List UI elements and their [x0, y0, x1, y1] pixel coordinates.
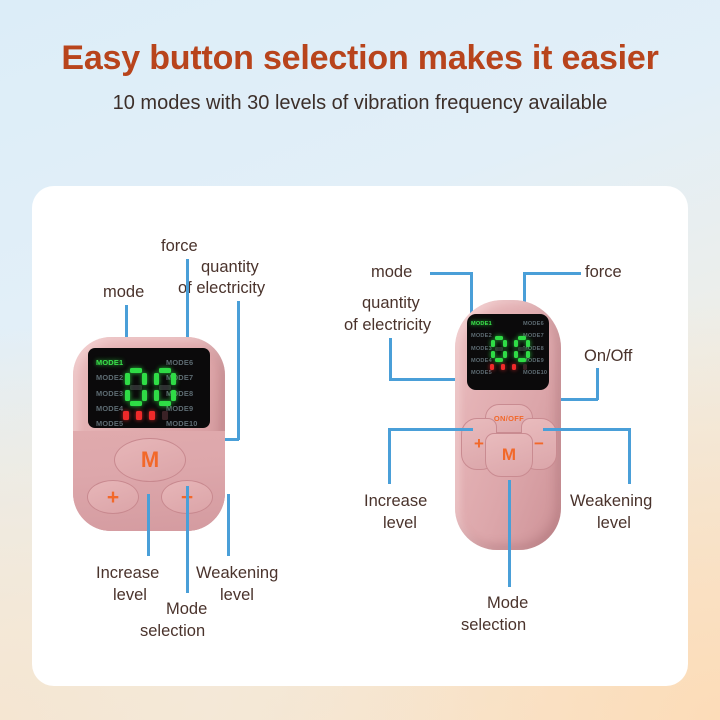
right-callout-increase-line2: level: [383, 514, 417, 533]
right-lcd-mode-column-left: MODE1 MODE2 MODE3 MODE4 MODE5: [471, 321, 492, 382]
segment-c: [503, 351, 507, 358]
battery-bar: [123, 411, 129, 420]
right-mode-button[interactable]: M: [485, 433, 533, 477]
segment-c: [171, 390, 176, 402]
battery-bar: [501, 364, 505, 370]
left-callout-mode-label: mode: [103, 283, 144, 302]
segment-c: [526, 351, 530, 358]
segment-e: [514, 351, 518, 358]
seven-segment-digit: [491, 336, 507, 362]
left-callout-increase-line2: level: [113, 586, 147, 605]
segment-g: [495, 347, 503, 351]
segment-a: [130, 368, 142, 373]
left-callout-increase-line1: Increase: [96, 564, 159, 583]
segment-b: [142, 373, 147, 385]
seven-segment-digit: [154, 368, 176, 406]
left-lcd-mode-1: MODE1: [96, 358, 123, 367]
right-leader-increase-h: [388, 428, 473, 431]
battery-bar: [136, 411, 142, 420]
left-callout-quantity-label-line1: quantity: [201, 258, 259, 277]
segment-d: [495, 358, 503, 362]
right-lcd-mode-4: MODE4: [471, 358, 492, 364]
left-lcd-mode-6: MODE6: [166, 358, 198, 367]
right-lcd-mode-6: MODE6: [523, 321, 547, 327]
left-device-lcd: MODE1 MODE2 MODE3 MODE4 MODE5 MODE6 MODE…: [88, 348, 210, 428]
left-lcd-mode-3: MODE3: [96, 389, 123, 398]
left-lcd-battery: [123, 411, 168, 420]
right-callout-mode-selection-line1: Mode: [487, 594, 528, 613]
left-callout-weakening-line1: Weakening: [196, 564, 278, 583]
right-lcd-mode-5: MODE5: [471, 370, 492, 376]
left-callout-quantity-label-line2: of electricity: [178, 279, 265, 298]
right-lcd-mode-2: MODE2: [471, 333, 492, 339]
segment-e: [491, 351, 495, 358]
left-lcd-mode-5: MODE5: [96, 419, 123, 428]
segment-g: [518, 347, 526, 351]
segment-a: [518, 336, 526, 340]
segment-a: [495, 336, 503, 340]
left-lcd-mode-2: MODE2: [96, 373, 123, 382]
right-leader-force-h: [523, 272, 581, 275]
left-lcd-digits: [125, 368, 176, 406]
left-callout-force-label: force: [161, 237, 198, 256]
seven-segment-digit: [125, 368, 147, 406]
right-callout-force-label: force: [585, 263, 622, 282]
seven-segment-digit: [514, 336, 530, 362]
right-device-lcd: MODE1 MODE2 MODE3 MODE4 MODE5 MODE6 MODE…: [467, 314, 549, 390]
right-leader-weakening-v: [628, 428, 631, 484]
left-leader-weakening: [227, 494, 230, 556]
segment-c: [142, 390, 147, 402]
battery-bar: [512, 364, 516, 370]
segment-b: [503, 340, 507, 347]
left-lcd-mode-4: MODE4: [96, 404, 123, 413]
segment-e: [154, 390, 159, 402]
right-callout-weakening-line2: level: [597, 514, 631, 533]
infographic-stage: Easy button selection makes it easier 10…: [0, 0, 720, 720]
segment-d: [159, 401, 171, 406]
right-lcd-battery: [490, 364, 527, 370]
right-leader-increase-v: [388, 428, 391, 484]
left-mode-button[interactable]: M: [114, 438, 186, 482]
segment-d: [130, 401, 142, 406]
header: Easy button selection makes it easier 10…: [0, 0, 720, 115]
left-lcd-mode-10: MODE10: [166, 419, 198, 428]
left-lcd-mode-column-left: MODE1 MODE2 MODE3 MODE4 MODE5: [96, 358, 123, 428]
battery-bar: [162, 411, 168, 420]
left-leader-mode-selection: [186, 486, 189, 593]
segment-g: [130, 385, 142, 390]
right-callout-quantity-label-line2: of electricity: [344, 316, 431, 335]
right-leader-weakening-h: [543, 428, 628, 431]
segment-d: [518, 358, 526, 362]
left-increase-button[interactable]: +: [87, 480, 139, 514]
segment-f: [514, 340, 518, 347]
left-callout-mode-selection-line1: Mode: [166, 600, 207, 619]
segment-f: [125, 373, 130, 385]
right-callout-weakening-line1: Weakening: [570, 492, 652, 511]
right-leader-quantity-v: [389, 338, 392, 380]
segment-g: [159, 385, 171, 390]
right-callout-increase-line1: Increase: [364, 492, 427, 511]
segment-b: [526, 340, 530, 347]
segment-a: [159, 368, 171, 373]
right-leader-mode-selection: [508, 480, 511, 587]
battery-bar: [490, 364, 494, 370]
right-lcd-mode-1: MODE1: [471, 321, 492, 327]
left-callout-mode-selection-line2: selection: [140, 622, 205, 641]
right-leader-onoff-v: [596, 368, 599, 400]
segment-e: [125, 390, 130, 402]
segment-f: [154, 373, 159, 385]
left-leader-quantity-v: [237, 301, 240, 440]
right-callout-onoff-label: On/Off: [584, 347, 632, 366]
right-leader-mode-h: [430, 272, 472, 275]
left-leader-increase: [147, 494, 150, 556]
right-lcd-mode-3: MODE3: [471, 346, 492, 352]
page-title: Easy button selection makes it easier: [0, 0, 720, 77]
right-lcd-digits: [491, 336, 530, 362]
page-subtitle: 10 modes with 30 levels of vibration fre…: [0, 77, 720, 115]
battery-bar: [523, 364, 527, 370]
right-callout-mode-selection-line2: selection: [461, 616, 526, 635]
segment-f: [491, 340, 495, 347]
left-callout-weakening-line2: level: [220, 586, 254, 605]
right-callout-quantity-label-line1: quantity: [362, 294, 420, 313]
right-callout-mode-label: mode: [371, 263, 412, 282]
battery-bar: [149, 411, 155, 420]
segment-b: [171, 373, 176, 385]
right-lcd-mode-10: MODE10: [523, 370, 547, 376]
